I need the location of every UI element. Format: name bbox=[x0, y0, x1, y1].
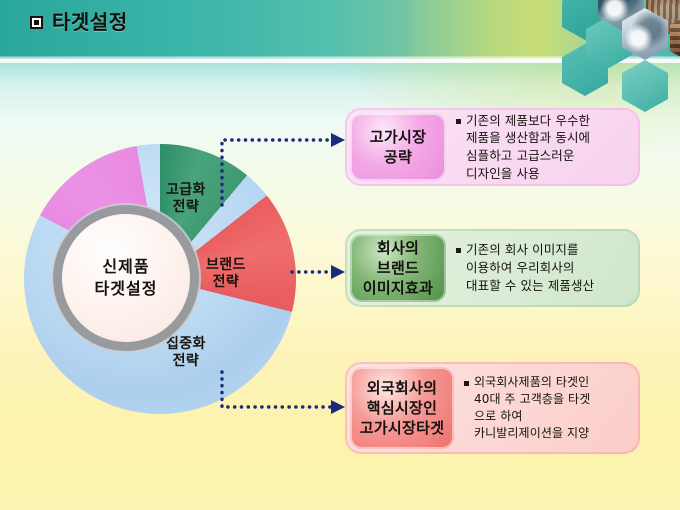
diagram-hub[interactable]: 신제품 타겟설정 bbox=[62, 214, 190, 342]
card-premium-market-body-line2: 제품을 생산함과 동시에 bbox=[466, 129, 590, 147]
card-foreign-target-tag-line2: 핵심시장인 bbox=[367, 399, 438, 417]
square-bullet-icon bbox=[456, 119, 461, 124]
card-premium-market-body: 기존의 제품보다 우수한 제품을 생산함과 동시에 심플하고 고급스러운 디자인… bbox=[446, 108, 640, 186]
wedge-focus-label-line1: 집중화 bbox=[166, 336, 206, 353]
card-foreign-target-body-line3: 으로 하여 bbox=[474, 408, 590, 425]
wedge-focus-label: 집중화 전략 bbox=[166, 336, 206, 369]
card-foreign-target-body-line2: 40대 주 고객층을 타겟 bbox=[474, 391, 590, 408]
card-brand-image-tag-line3: 이미지효과 bbox=[363, 279, 434, 297]
card-brand-image-tag-line2: 브랜드 bbox=[377, 259, 419, 277]
card-foreign-target[interactable]: 외국회사의 핵심시장인 고가시장타겟 외국회사제품의 타겟인 40대 주 고객층… bbox=[345, 362, 640, 454]
wedge-premium-label-line1: 고급화 bbox=[166, 182, 206, 199]
card-brand-image[interactable]: 회사의 브랜드 이미지효과 기존의 회사 이미지를 이용하여 우리회사의 대표할… bbox=[345, 229, 640, 307]
card-foreign-target-body: 외국회사제품의 타겟인 40대 주 고객층을 타겟 으로 하여 카니발리제이션을… bbox=[454, 362, 640, 454]
card-brand-image-tag-line1: 회사의 bbox=[377, 239, 419, 257]
card-brand-image-body-line1: 기존의 회사 이미지를 bbox=[466, 241, 594, 259]
wedge-brand-label-line2: 전략 bbox=[206, 274, 246, 291]
card-premium-market[interactable]: 고가시장 공략 기존의 제품보다 우수한 제품을 생산함과 동시에 심플하고 고… bbox=[345, 108, 640, 186]
slide-canvas: 타겟설정 고급화 전략 브랜드 전략 집중화 전략 신제품 타겟설정 bbox=[0, 0, 680, 510]
card-brand-image-body-line2: 이용하여 우리회사의 bbox=[466, 259, 594, 277]
card-premium-market-tag-line1: 고가시장 bbox=[370, 128, 426, 146]
card-foreign-target-tag-line1: 외국회사의 bbox=[367, 379, 438, 397]
card-premium-market-body-line3: 심플하고 고급스러운 bbox=[466, 147, 590, 165]
card-foreign-target-body-line4: 카니발리제이션을 지양 bbox=[474, 425, 590, 442]
hub-label-line1: 신제품 bbox=[102, 258, 149, 276]
square-bullet-icon bbox=[456, 248, 461, 253]
card-foreign-target-tag: 외국회사의 핵심시장인 고가시장타겟 bbox=[350, 367, 454, 449]
card-premium-market-body-line1: 기존의 제품보다 우수한 bbox=[466, 112, 590, 130]
card-foreign-target-tag-line3: 고가시장타겟 bbox=[360, 419, 445, 437]
square-bullet-icon bbox=[30, 16, 43, 29]
wedge-premium-label: 고급화 전략 bbox=[166, 182, 206, 215]
wedge-brand-label: 브랜드 전략 bbox=[206, 257, 246, 290]
card-brand-image-tag: 회사의 브랜드 이미지효과 bbox=[350, 234, 446, 302]
radial-strategy-diagram: 고급화 전략 브랜드 전략 집중화 전략 신제품 타겟설정 bbox=[18, 140, 308, 418]
card-premium-market-tag-line2: 공략 bbox=[384, 148, 412, 166]
card-premium-market-body-line4: 디자인을 사용 bbox=[466, 165, 590, 183]
card-brand-image-body: 기존의 회사 이미지를 이용하여 우리회사의 대표할 수 있는 제품생산 bbox=[446, 229, 640, 307]
card-brand-image-body-line3: 대표할 수 있는 제품생산 bbox=[466, 277, 594, 295]
card-premium-market-tag: 고가시장 공략 bbox=[350, 113, 446, 181]
wedge-focus-label-line2: 전략 bbox=[166, 353, 206, 370]
square-bullet-icon bbox=[464, 381, 469, 386]
page-title-text: 타겟설정 bbox=[52, 12, 128, 32]
wedge-brand-label-line1: 브랜드 bbox=[206, 257, 246, 274]
page-title: 타겟설정 bbox=[30, 12, 128, 32]
wedge-premium-label-line2: 전략 bbox=[166, 199, 206, 216]
hexagon-photo-cluster bbox=[560, 0, 680, 78]
card-foreign-target-body-line1: 외국회사제품의 타겟인 bbox=[474, 374, 590, 391]
hub-label-line2: 타겟설정 bbox=[95, 280, 158, 298]
